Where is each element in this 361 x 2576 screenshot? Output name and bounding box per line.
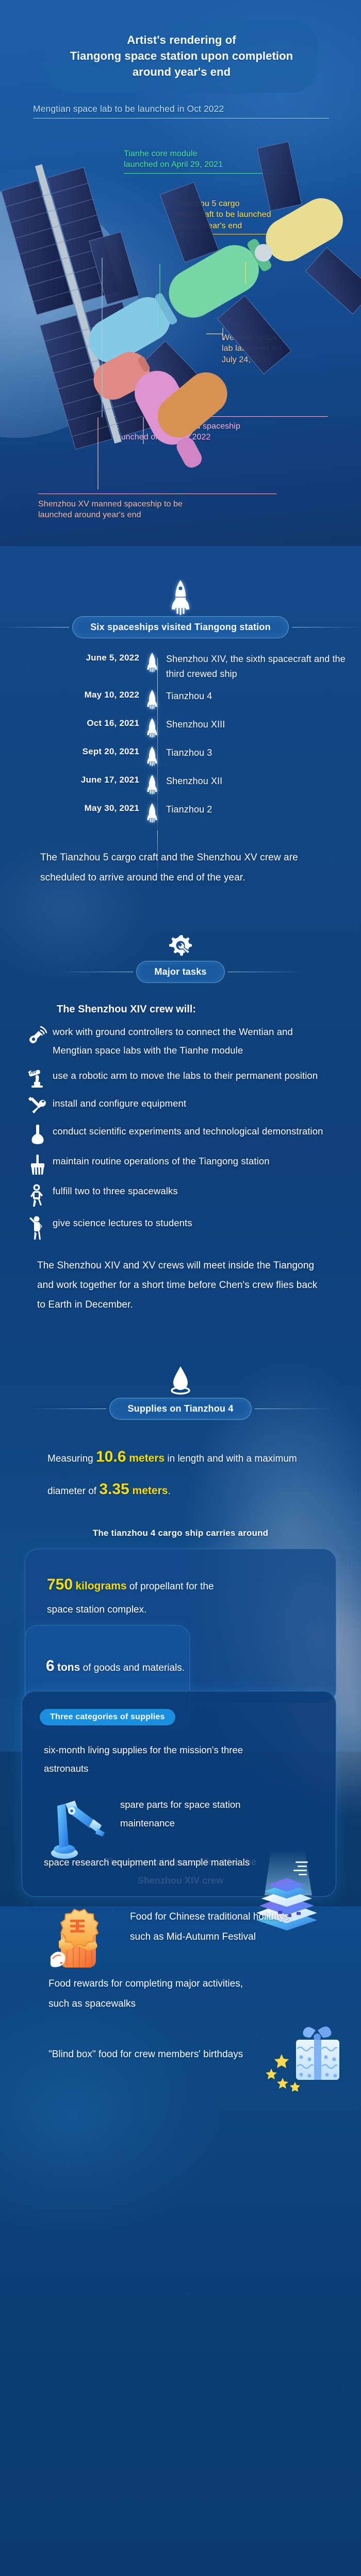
timeline-row: June 17, 2021 Shenzhou XII	[0, 774, 361, 795]
section-six-spaceships: Six spaceships visited Tiangong station	[0, 579, 361, 638]
visits-note: The Tianzhou 5 cargo craft and the Shenz…	[40, 848, 319, 888]
measure-length-unit: meters	[126, 1452, 165, 1464]
food-item-1-text: Food for Chinese traditional holidays, s…	[130, 1907, 300, 1947]
callout-shenzhou15-line1: Shenzhou XV manned spaceship to be	[38, 499, 276, 510]
section-rule-left	[56, 972, 133, 972]
propellant-text: 750 kilograms of propellant for the spac…	[47, 1569, 217, 1620]
title-line-3: around year's end	[61, 64, 302, 80]
task-label: work with ground controllers to connect …	[53, 1023, 332, 1060]
timeline-label: Tianzhou 4	[159, 689, 361, 704]
task-item: work with ground controllers to connect …	[23, 1023, 332, 1060]
propellant-unit: kilograms	[75, 1580, 126, 1592]
section-rule-left	[0, 627, 69, 628]
task-label: maintain routine operations of the Tiang…	[53, 1152, 270, 1171]
title-line-1: Artist's rendering of	[61, 32, 302, 48]
measure-diameter-unit: meters	[129, 1485, 168, 1497]
tools-icon	[23, 1094, 53, 1116]
timeline-label: Shenzhou XII	[159, 774, 361, 789]
mooncake-icon	[47, 1905, 114, 1982]
categories-card: Three categories of supplies six-month l…	[22, 1691, 336, 1897]
task-item: install and configure equipment	[23, 1094, 332, 1116]
timeline-rocket-icon	[145, 689, 159, 710]
timeline-row: Oct 16, 2021 Shenzhou XIII	[0, 717, 361, 738]
food-item-3-text: "Blind box" food for crew members' birth…	[48, 2045, 244, 2065]
timeline-date: Sept 20, 2021	[0, 745, 145, 757]
timeline-date: May 30, 2021	[0, 802, 145, 814]
task-label: fulfill two to three spacewalks	[53, 1182, 178, 1200]
goods-value: 6	[46, 1657, 55, 1674]
space-station-illustration	[0, 129, 361, 500]
callout-mengtian-label: Mengtian space lab to be launched in Oct…	[33, 103, 329, 115]
timeline-rocket-icon	[145, 774, 159, 795]
timeline-label: Tianzhou 3	[159, 745, 361, 760]
measure-pre: Measuring	[47, 1453, 96, 1464]
timeline-row: June 5, 2022 Shenzhou XIV, the sixth spa…	[0, 652, 361, 682]
flask-icon	[23, 1122, 53, 1146]
teacher-icon	[23, 1214, 53, 1241]
section-rule-right	[228, 972, 305, 972]
tasks-closing: The Shenzhou XIV and XV crews will meet …	[37, 1256, 326, 1315]
infographic-page: Artist's rendering of Tiangong space sta…	[0, 0, 361, 2576]
task-item: give science lectures to students	[23, 1214, 332, 1241]
task-item: fulfill two to three spacewalks	[23, 1182, 332, 1208]
gift-box-icon	[266, 2024, 343, 2096]
task-label: install and configure equipment	[53, 1094, 186, 1113]
category-item-2: spare parts for space station maintenanc…	[120, 1795, 285, 1833]
callout-mengtian: Mengtian space lab to be launched in Oct…	[33, 103, 329, 118]
measure-diameter-value: 3.35	[99, 1481, 129, 1498]
timeline-date: May 10, 2022	[0, 689, 145, 700]
callout-shenzhou15-line2: launched around year's end	[38, 510, 276, 520]
astronaut-icon	[23, 1182, 53, 1208]
main-title: Artist's rendering of Tiangong space sta…	[45, 21, 318, 93]
water-drop-icon	[169, 1365, 192, 1397]
task-label: conduct scientific experiments and techn…	[53, 1122, 323, 1141]
measure-length-value: 10.6	[96, 1448, 126, 1465]
section-rule-right	[292, 627, 361, 628]
propellant-value: 750	[47, 1576, 73, 1593]
goods-rest: of goods and materials.	[80, 1663, 185, 1673]
tasks-intro: The Shenzhou XIV crew will:	[57, 1004, 361, 1015]
callout-mengtian-rule	[33, 118, 329, 118]
timeline-date: June 17, 2021	[0, 774, 145, 785]
cargo-heading: The tianzhou 4 cargo ship carries around	[0, 1528, 361, 1538]
robotic-arm-icon	[23, 1066, 53, 1088]
timeline-rocket-icon	[145, 745, 159, 767]
tianzhou-dimensions: Measuring 10.6 meters in length and with…	[47, 1440, 324, 1505]
task-label: use a robotic arm to move the labs to th…	[53, 1066, 318, 1085]
satellite-signal-icon	[23, 1023, 53, 1046]
section-rule-left	[29, 1409, 106, 1409]
supplies-cards: 750 kilograms of propellant for the spac…	[0, 1549, 361, 1791]
section-heading-major-tasks: Major tasks	[136, 961, 224, 983]
category-item-1: six-month living supplies for the missio…	[44, 1741, 260, 1778]
timeline-tail	[157, 831, 158, 874]
timeline-rocket-icon	[145, 652, 159, 673]
timeline-label: Shenzhou XIV, the sixth spacecraft and t…	[159, 652, 361, 682]
timeline-label: Shenzhou XIII	[159, 717, 361, 732]
food-item-1: Food for Chinese traditional holidays, s…	[0, 1907, 361, 1947]
task-item: conduct scientific experiments and techn…	[23, 1122, 332, 1146]
section-heading-six-spaceships: Six spaceships visited Tiangong station	[72, 616, 289, 638]
title-line-2: Tiangong space station upon completion	[61, 48, 302, 64]
section-rule-right	[255, 1409, 332, 1409]
timeline-row: May 30, 2021 Tianzhou 2	[0, 802, 361, 823]
goods-text: 6 tons of goods and materials.	[46, 1650, 189, 1682]
task-item: maintain routine operations of the Tiang…	[23, 1152, 332, 1176]
section-heading-supplies: Supplies on Tianzhou 4	[109, 1398, 251, 1420]
measure-post: .	[168, 1486, 170, 1497]
hero-section: Artist's rendering of Tiangong space sta…	[0, 0, 361, 546]
category-item-3: space research equipment and sample mate…	[44, 1853, 250, 1872]
timeline-row: Sept 20, 2021 Tianzhou 3	[0, 745, 361, 767]
timeline-rocket-icon	[145, 802, 159, 823]
timeline-date: June 5, 2022	[0, 652, 145, 663]
section-major-tasks: Major tasks	[0, 933, 361, 983]
categories-badge: Three categories of supplies	[40, 1709, 175, 1725]
timeline-rocket-icon	[145, 717, 159, 738]
timeline-row: May 10, 2022 Tianzhou 4	[0, 689, 361, 710]
broom-icon	[23, 1152, 53, 1176]
section-supplies: Supplies on Tianzhou 4	[0, 1365, 361, 1420]
task-label: give science lectures to students	[53, 1214, 192, 1232]
gear-wrench-icon	[167, 933, 194, 960]
visits-timeline: June 5, 2022 Shenzhou XIV, the sixth spa…	[0, 652, 361, 833]
rocket-icon	[170, 579, 191, 615]
robotic-arm-illustration	[46, 1799, 108, 1859]
food-item-3: "Blind box" food for crew members' birth…	[0, 2045, 361, 2065]
timeline-label: Tianzhou 2	[159, 802, 361, 817]
timeline-date: Oct 16, 2021	[0, 717, 145, 728]
goods-unit: tons	[57, 1662, 80, 1673]
task-item: use a robotic arm to move the labs to th…	[23, 1066, 332, 1088]
